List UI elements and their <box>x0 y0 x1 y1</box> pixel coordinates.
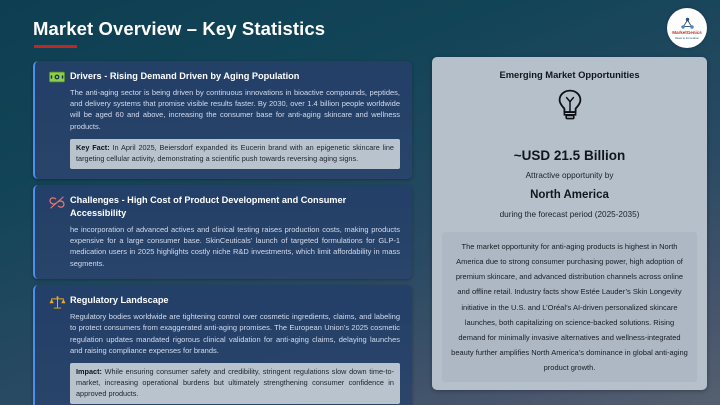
card-callout: Impact: While ensuring consumer safety a… <box>70 363 400 404</box>
page-title: Market Overview – Key Statistics <box>33 18 325 40</box>
card-heading: Drivers - Rising Demand Driven by Aging … <box>70 70 400 83</box>
panel-market-value: ~USD 21.5 Billion <box>514 148 625 163</box>
card-callout: Key Fact: In April 2025, Beiersdorf expa… <box>70 139 400 169</box>
card-icon-slot <box>44 294 70 310</box>
broken-link-icon <box>48 195 66 210</box>
slide-root: Market Overview – Key Statistics MarketG… <box>0 0 720 405</box>
card-heading: Challenges - High Cost of Product Develo… <box>70 194 400 219</box>
card-callout-label: Key Fact: <box>76 143 110 152</box>
panel-forecast-period: during the forecast period (2025-2035) <box>500 210 640 219</box>
panel-region: North America <box>530 189 609 201</box>
card-icon-slot <box>44 194 70 210</box>
card-body: Regulatory Landscape Regulatory bodies w… <box>70 294 400 404</box>
emerging-opportunities-panel: Emerging Market Opportunities ~USD 21.5 … <box>432 57 707 390</box>
card-regulatory[interactable]: Regulatory Landscape Regulatory bodies w… <box>33 285 412 405</box>
panel-description: The market opportunity for anti-aging pr… <box>442 232 697 382</box>
card-callout-label: Impact: <box>76 367 102 376</box>
card-challenges[interactable]: Challenges - High Cost of Product Develo… <box>33 185 412 279</box>
brand-logo: MarketGenics Ideas to Innovation <box>667 8 707 48</box>
panel-title: Emerging Market Opportunities <box>499 69 639 80</box>
network-nodes-icon <box>680 17 695 30</box>
card-text: he incorporation of advanced actives and… <box>70 224 400 270</box>
lightbulb-icon <box>557 89 583 121</box>
logo-tagline: Ideas to Innovation <box>675 37 699 40</box>
balance-scales-icon <box>49 295 66 310</box>
card-callout-text: In April 2025, Beiersdorf expanded its E… <box>76 143 394 163</box>
card-body: Challenges - High Cost of Product Develo… <box>70 194 400 269</box>
card-text: Regulatory bodies worldwide are tighteni… <box>70 311 400 357</box>
insight-card-list: Drivers - Rising Demand Driven by Aging … <box>33 61 412 405</box>
card-body: Drivers - Rising Demand Driven by Aging … <box>70 70 400 169</box>
card-text: The anti-aging sector is being driven by… <box>70 87 400 133</box>
card-callout-text: While ensuring consumer safety and credi… <box>76 367 394 398</box>
title-underline-rule <box>34 45 77 48</box>
panel-subtitle: Attractive opportunity by <box>526 171 614 180</box>
card-icon-slot <box>44 70 70 83</box>
panel-icon-slot <box>557 89 583 126</box>
banknote-icon <box>49 71 65 83</box>
card-drivers[interactable]: Drivers - Rising Demand Driven by Aging … <box>33 61 412 179</box>
card-heading: Regulatory Landscape <box>70 294 400 307</box>
